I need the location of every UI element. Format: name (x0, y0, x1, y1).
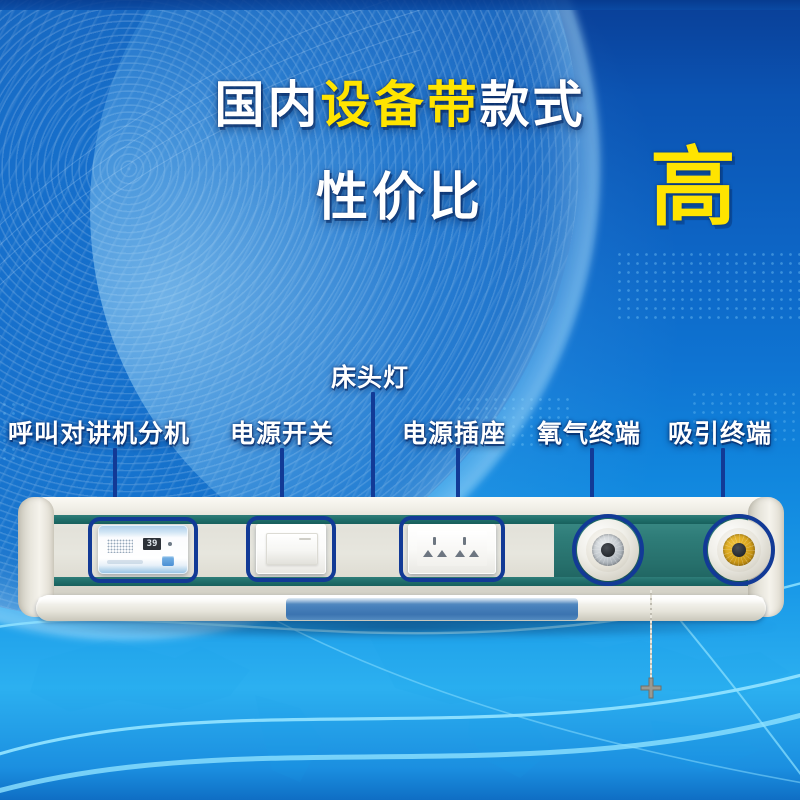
poster-canvas: 国内设备带款式 性价比 高 呼叫对讲机分机 电源开关 床头灯 电源插座 氧气终端… (0, 0, 800, 800)
callout-label-power-outlet: 电源插座 (402, 414, 506, 450)
callout-label-oxygen-terminal: 氧气终端 (537, 414, 641, 450)
callout-label-intercom: 呼叫对讲机分机 (8, 414, 190, 450)
annotation-circle-suction (703, 514, 775, 586)
callout-label-power-switch: 电源开关 (230, 414, 334, 450)
panel-rail-highlight (38, 597, 764, 604)
top-edge-band (0, 0, 800, 10)
medical-bedhead-panel: 39 (18, 495, 783, 645)
dot-matrix-decor-top-right (615, 250, 800, 320)
annotation-circle-oxygen (572, 514, 644, 586)
callout-label-bed-lamp: 床头灯 (331, 358, 409, 394)
callout-label-suction-terminal: 吸引终端 (668, 414, 772, 450)
annotation-box-power-switch (246, 516, 336, 582)
annotation-box-intercom (88, 517, 198, 583)
pull-cord-string[interactable] (650, 590, 652, 682)
headline-emphasis-character: 高 (650, 145, 736, 231)
arc-lines-decor (0, 0, 480, 480)
pull-cord-handle-icon[interactable] (638, 677, 664, 703)
annotation-box-power-outlet (399, 516, 505, 582)
